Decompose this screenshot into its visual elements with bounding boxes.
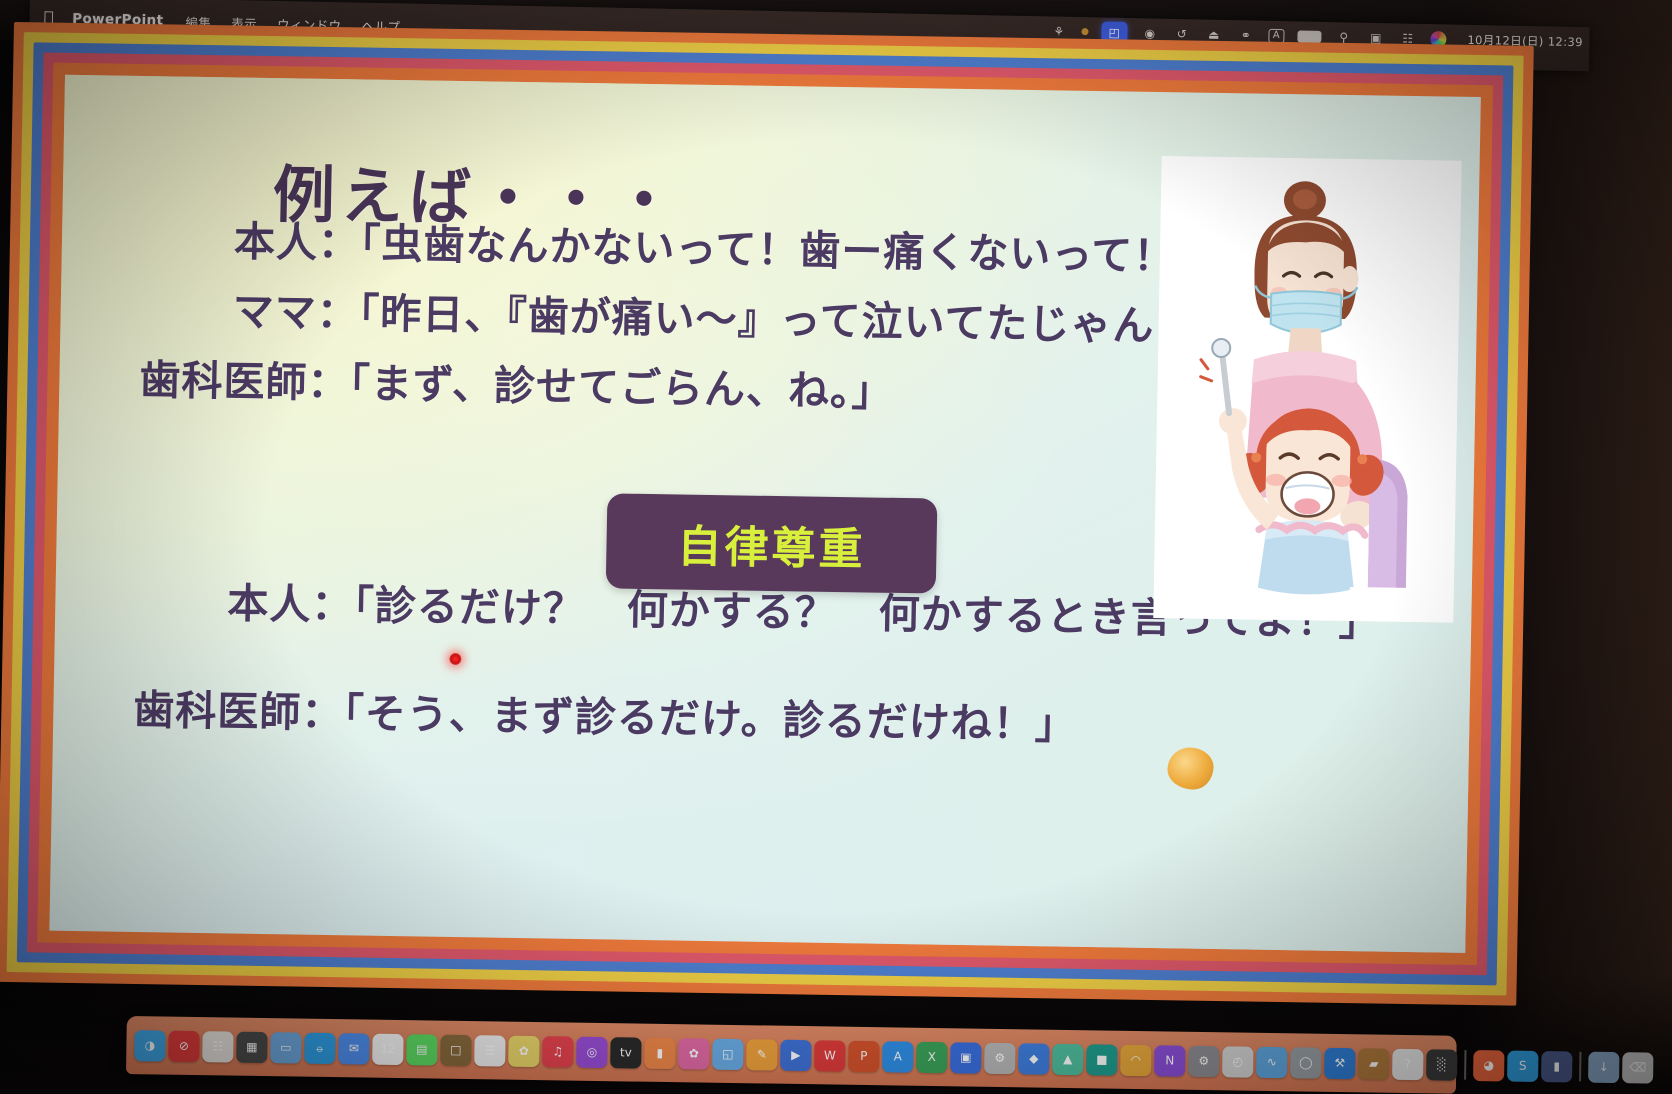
dock-item-utility-gray[interactable]: ⚙ (984, 1042, 1015, 1073)
dock-item-preview[interactable]: ◱ (712, 1038, 743, 1069)
dock-item-podcasts[interactable]: ◎ (576, 1036, 607, 1067)
dock-item-grapher[interactable]: ∿ (1256, 1046, 1287, 1077)
dock-item-firefox[interactable]: ◕ (1473, 1049, 1504, 1080)
dock-item-system-settings[interactable]: ⚙ (1188, 1045, 1219, 1076)
dock-item-disk-utility[interactable]: ◯ (1290, 1047, 1321, 1078)
dock-item-do-not-disturb[interactable]: ⊘ (168, 1030, 199, 1061)
status-badge-autonomy: 自律尊重 (606, 493, 938, 593)
dock-item-books[interactable]: ▮ (644, 1037, 675, 1068)
orange-clipart-icon (1167, 747, 1214, 790)
orange-dot-indicator-icon (1081, 28, 1088, 35)
dock-item-finder[interactable]: ◑ (134, 1030, 165, 1061)
dialogue-line-dentist-2: 歯科医師：「そう、まず診るだけ。診るだけね！」 (133, 676, 1077, 751)
dock-item-contacts[interactable]: □ (440, 1034, 471, 1065)
dock-item-dropbox[interactable]: ◆ (1018, 1043, 1049, 1074)
dock-item-mail[interactable]: ✉ (338, 1033, 369, 1064)
dock-item-app-store-photos[interactable]: ✿ (678, 1038, 709, 1069)
status-badge-label: 自律尊重 (677, 510, 866, 577)
dock-separator (1464, 1050, 1466, 1080)
dock-item-xcode[interactable]: ⚒ (1324, 1047, 1355, 1078)
dock-item-sublime[interactable]: ◠ (1120, 1044, 1151, 1075)
projection-screen: 例えば・・・ 本人：「虫歯なんかないって！歯ー痛くないって！」 ママ：「昨日、『… (0, 22, 1534, 1006)
dock-item-onenote[interactable]: N (1154, 1045, 1185, 1076)
dialogue-line-dentist-1: 歯科医師：「まず、診せてごらん、ね。」 (139, 346, 894, 418)
dock-item-apple-tv[interactable]: tv (610, 1037, 641, 1068)
dock-item-trash[interactable]: ⌫ (1622, 1052, 1653, 1083)
laser-pointer-dot (449, 653, 461, 665)
dock-item-powerpoint[interactable]: P (848, 1040, 879, 1071)
dock-item-keynote[interactable]: ▶ (780, 1039, 811, 1070)
dock-item-safari[interactable]: ⦵ (304, 1032, 335, 1063)
input-source-icon[interactable]: A (1268, 28, 1284, 42)
dock-item-notes[interactable]: ▤ (406, 1034, 437, 1065)
dock-item-skype[interactable]: S (1507, 1050, 1538, 1081)
dock-item-teal-editor[interactable]: ■ (1086, 1044, 1117, 1075)
dock-item-pdf-app[interactable]: ▮ (1541, 1050, 1572, 1081)
dock-item-reminders[interactable]: ☰ (474, 1035, 505, 1066)
dock-item-clock[interactable]: ◴ (1222, 1046, 1253, 1077)
dock-item-zoom[interactable]: ▣ (950, 1042, 981, 1073)
dock-item-word[interactable]: W (814, 1040, 845, 1071)
dock-item-script-editor[interactable]: ▰ (1358, 1048, 1389, 1079)
dock-item-app-store[interactable]: A (882, 1041, 913, 1072)
dock-item-downloads-stack[interactable]: ↓ (1588, 1051, 1619, 1082)
dock-item-photos[interactable]: ✿ (508, 1035, 539, 1066)
dock-item-affinity[interactable]: ▲ (1052, 1043, 1083, 1074)
dock-item-launchpad[interactable]: ☷ (202, 1031, 233, 1062)
dock-item-pages[interactable]: ✎ (746, 1039, 777, 1070)
dock-item-calendar[interactable]: 12 (372, 1033, 403, 1064)
dock-item-help-viewer[interactable]: ? (1392, 1048, 1423, 1079)
battery-icon[interactable] (1297, 30, 1321, 42)
slide-title: 例えば・・・ (272, 144, 682, 240)
dock-item-grid-utility[interactable]: ░ (1426, 1049, 1457, 1080)
dentist-and-child-illustration (1153, 156, 1461, 623)
powerpoint-slide-canvas: 例えば・・・ 本人：「虫歯なんかないって！歯ー痛くないって！」 ママ：「昨日、『… (49, 75, 1481, 953)
dock-item-calculator[interactable]: ▦ (236, 1031, 267, 1062)
dock-item-music[interactable]: ♫ (542, 1036, 573, 1067)
dialogue-line-mother: ママ：「昨日、『歯が痛い〜』って泣いてたじゃん！ (232, 277, 1197, 352)
dock-item-excel[interactable]: X (916, 1041, 947, 1072)
dock-item-desktop[interactable]: ▭ (270, 1032, 301, 1063)
projected-presentation-photo:  PowerPoint 編集 表示 ウィンドウ ヘルプ ⚘ ◰ ◉ ↺ ⏏ ⚭… (0, 0, 1672, 1094)
